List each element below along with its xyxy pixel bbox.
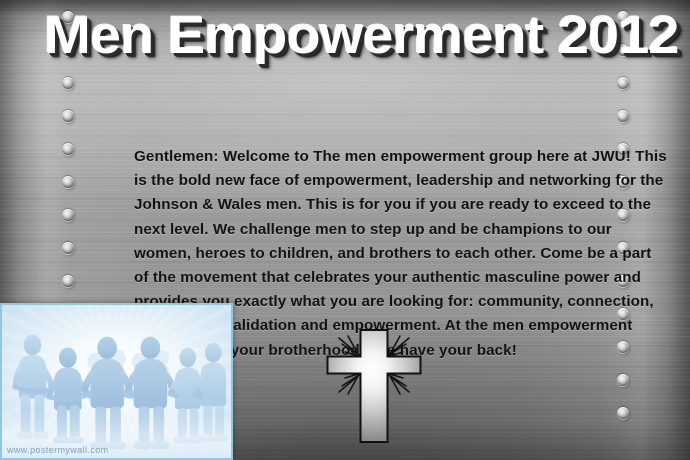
- rivet: [62, 209, 74, 221]
- rivet: [62, 176, 74, 188]
- rivet: [62, 77, 74, 89]
- rivet: [62, 143, 74, 155]
- cross-icon: [315, 322, 433, 450]
- rivet: [617, 77, 629, 89]
- rivet: [62, 242, 74, 254]
- rivet: [617, 110, 629, 122]
- cross-graphic: [315, 322, 433, 450]
- rivet: [62, 275, 74, 287]
- page-title: Men Empowerment 2012: [44, 6, 680, 66]
- rivet: [617, 374, 629, 386]
- poster-canvas: Men Empowerment 2012 Gentlemen: Welcome …: [0, 0, 690, 460]
- rivet: [617, 407, 629, 419]
- rivet: [62, 110, 74, 122]
- silhouette-photo: www.postermywall.com: [0, 303, 233, 460]
- watermark-text: www.postermywall.com: [7, 445, 109, 455]
